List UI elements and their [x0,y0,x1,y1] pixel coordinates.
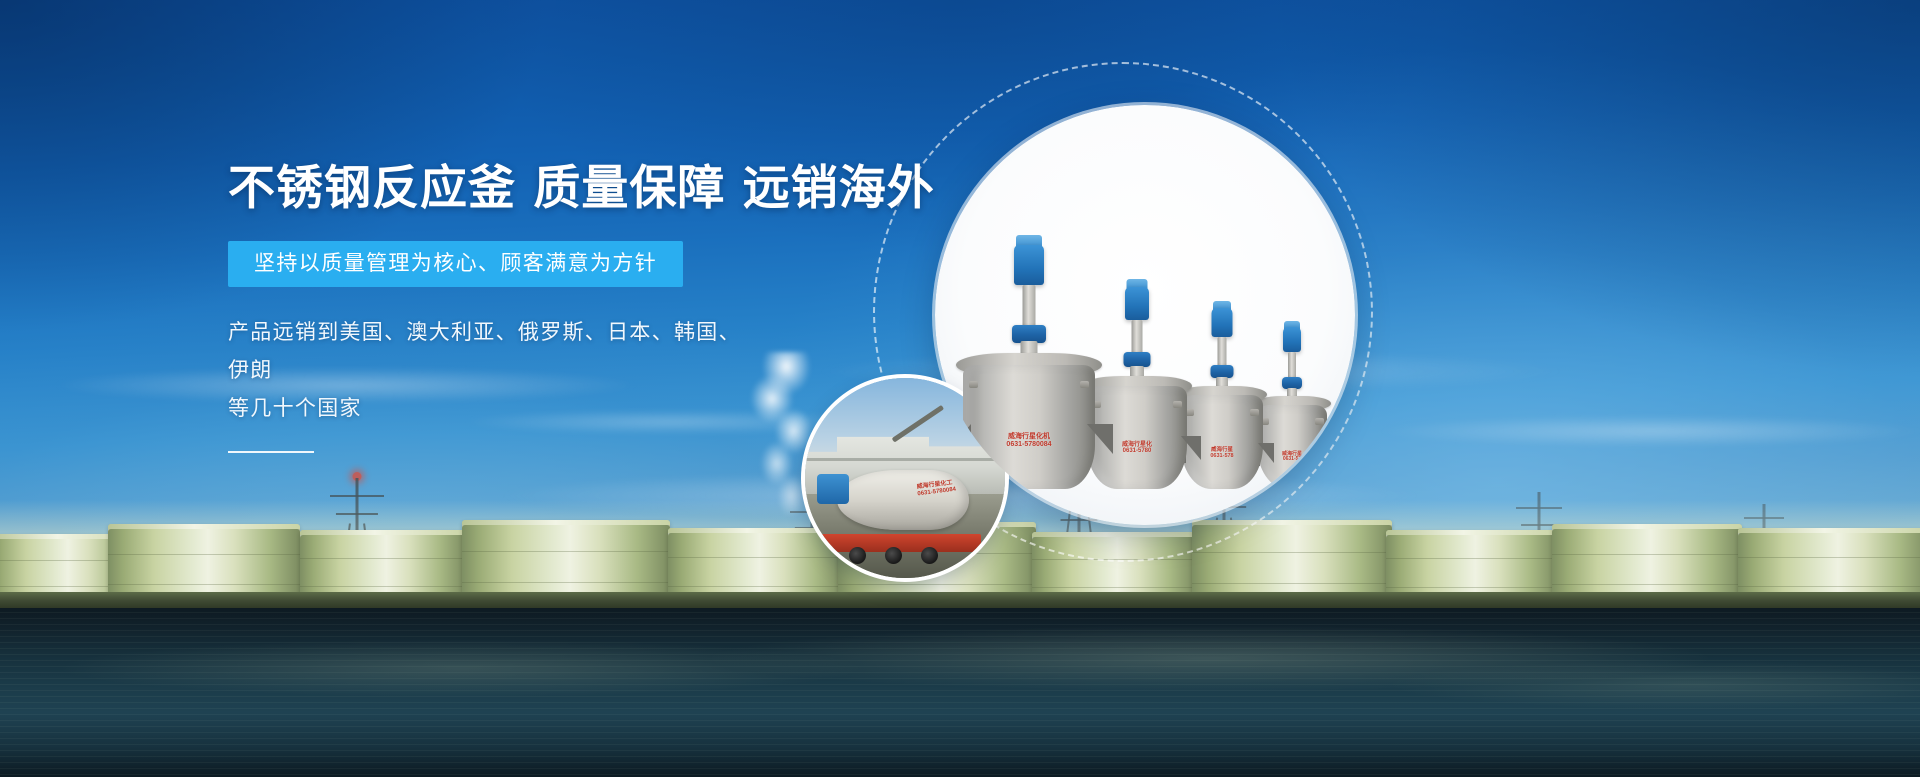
subtitle-text: 坚持以质量管理为核心、顾客满意为方针 [254,252,657,275]
reactor-vessel: 威海行星化 0631-5780 [1087,281,1187,489]
paragraph-line-2: 等几十个国家 [228,389,748,427]
transport-vessel [837,470,969,530]
hero-banner: 威海行星化机 0631-5780084 威海行星化 0631-5780 [0,0,1920,777]
banner-headline: 不锈钢反应釜 质量保障 远销海外 [228,162,968,217]
reactor-label-line2: 0631-57 [1283,456,1301,462]
subtitle-highlight-bar: 坚持以质量管理为核心、顾客满意为方针 [228,241,683,287]
reactor-label-line2: 0631-5780 [1123,448,1152,454]
reactor-group: 威海行星化机 0631-5780084 威海行星化 0631-5780 [935,145,1355,489]
vessel-motor [817,474,849,504]
trailer-wheel [849,547,866,564]
water-reflection [0,612,1920,777]
banner-copy-block: 不锈钢反应釜 质量保障 远销海外 坚持以质量管理为核心、顾客满意为方针 产品远销… [228,162,968,453]
reactor-vessel: 威海行星 0631-578 [1181,303,1263,489]
product-photo-circle: 威海行星化机 0631-5780084 威海行星化 0631-5780 [935,105,1355,525]
reactor-label-line2: 0631-578 [1210,453,1233,459]
accent-rule [228,451,314,453]
paragraph-line-1: 产品远销到美国、澳大利亚、俄罗斯、日本、韩国、伊朗 [228,313,748,389]
trailer-wheel [921,547,938,564]
reactor-label-line1: 威海行星化机 [1008,433,1050,440]
reactor-label-line2: 0631-5780084 [1006,441,1051,448]
reactor-vessel: 威海行星化机 0631-5780084 [963,239,1095,489]
reactor-vessel: 威海行星 0631-57 [1257,323,1327,489]
banner-paragraph: 产品远销到美国、澳大利亚、俄罗斯、日本、韩国、伊朗 等几十个国家 [228,313,748,428]
trailer-bed [821,534,981,552]
reactor-label-line1: 威海行星化 [1122,442,1152,448]
trailer-wheel [885,547,902,564]
